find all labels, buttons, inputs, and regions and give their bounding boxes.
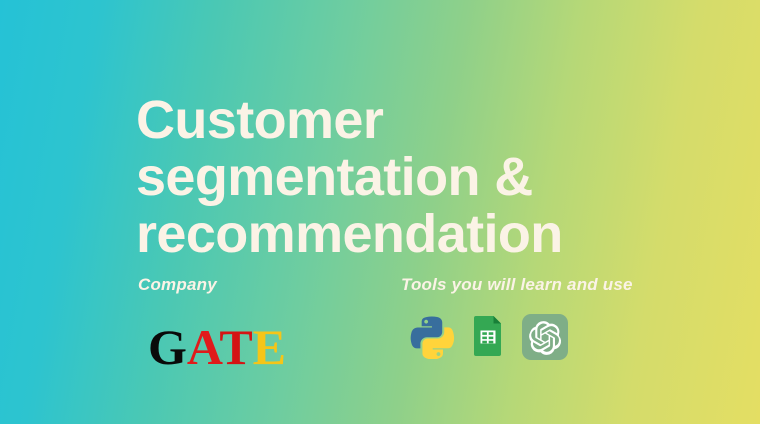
headline-line-3: recommendation <box>136 206 696 263</box>
company-block: Company GATE <box>138 275 286 372</box>
gate-letter-e: E <box>253 319 286 375</box>
tools-block: Tools you will learn and use <box>401 275 633 359</box>
gate-letter-g: G <box>148 319 187 375</box>
lower-section: Company GATE Tools you will learn and us… <box>0 275 760 405</box>
gate-letter-t: T <box>219 319 252 375</box>
slide-canvas: Customer segmentation & recommendation C… <box>0 0 760 424</box>
company-label: Company <box>138 275 286 295</box>
python-icon <box>409 313 455 359</box>
openai-chatgpt-icon <box>521 313 567 359</box>
google-sheets-icon <box>465 313 511 359</box>
headline-line-2: segmentation & <box>136 149 696 206</box>
page-title: Customer segmentation & recommendation <box>136 92 696 263</box>
headline-line-1: Customer <box>136 92 696 149</box>
gate-logo: GATE <box>148 322 286 372</box>
tools-label: Tools you will learn and use <box>401 275 633 295</box>
gate-letter-a: A <box>187 319 219 375</box>
tool-icon-row <box>409 313 633 359</box>
